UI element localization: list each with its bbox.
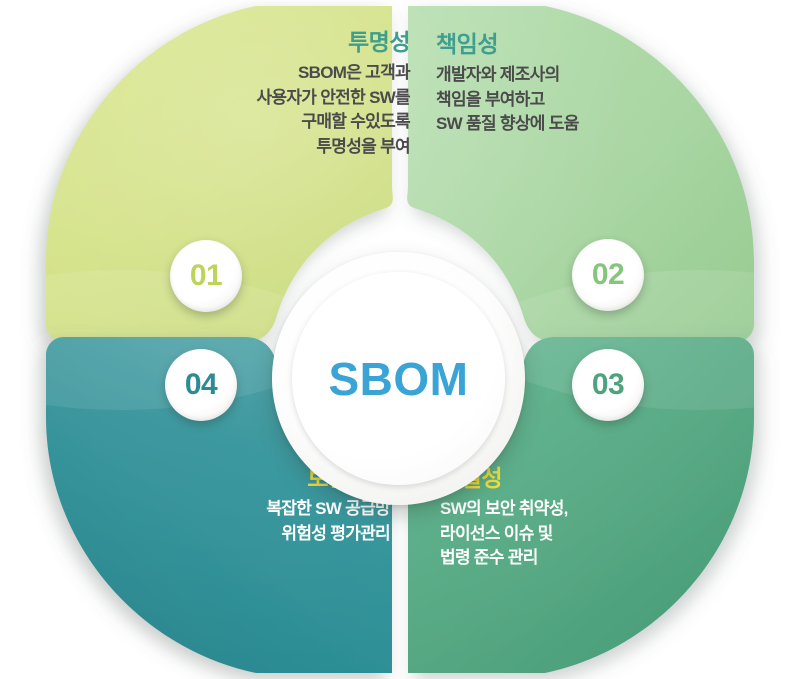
sbom-wheel-diagram: 투명성 SBOM은 고객과 사용자가 안전한 SW를 구매할 수있도록 투명성을… [0,0,800,679]
badge-number-01[interactable]: 01 [170,240,242,312]
badge-number-04[interactable]: 04 [165,349,237,421]
center-hub[interactable]: SBOM [272,252,525,505]
center-hub-inner-circle: SBOM [292,272,505,485]
center-label-sbom: SBOM [329,356,469,402]
badge-number-02[interactable]: 02 [572,239,644,311]
badge-number-03[interactable]: 03 [572,349,644,421]
